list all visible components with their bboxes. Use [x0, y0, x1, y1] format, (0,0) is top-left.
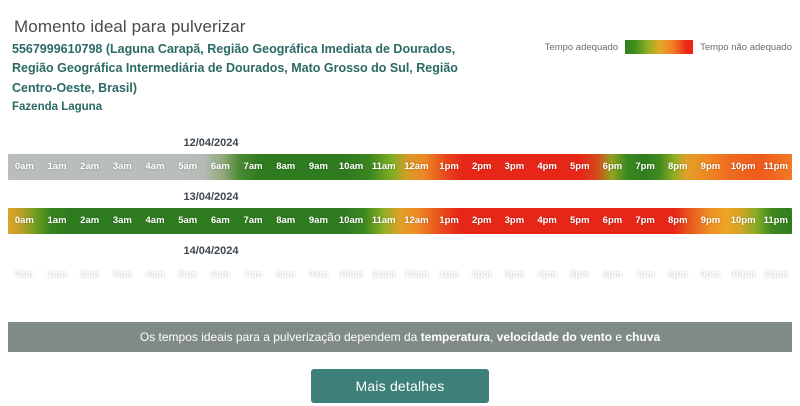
hour-cell[interactable]: 7pm: [629, 154, 662, 180]
hour-cell[interactable]: 11am: [367, 262, 400, 288]
legend-bad-label: Tempo não adequado: [700, 42, 792, 53]
legend: Tempo adequado Tempo não adequado: [545, 40, 792, 54]
hour-cell[interactable]: 9pm: [694, 262, 727, 288]
page-title: Momento ideal para pulverizar: [14, 17, 246, 37]
hour-cell[interactable]: 7am: [237, 262, 270, 288]
hour-cell[interactable]: 1pm: [433, 208, 466, 234]
hour-cell[interactable]: 6am: [204, 208, 237, 234]
hour-cell[interactable]: 2pm: [465, 262, 498, 288]
hour-cell[interactable]: 4am: [139, 154, 172, 180]
spray-timeline: 12/04/20240am1am2am3am4am5am6am7am8am9am…: [0, 133, 800, 295]
hour-cell[interactable]: 5pm: [563, 154, 596, 180]
hour-cell[interactable]: 3am: [106, 208, 139, 234]
hour-cell[interactable]: 1am: [41, 154, 74, 180]
hour-cell[interactable]: 11am: [367, 208, 400, 234]
hour-cell[interactable]: 9pm: [694, 208, 727, 234]
note-bold-vento: velocidade do vento: [497, 330, 612, 344]
hour-cell[interactable]: 4am: [139, 208, 172, 234]
hour-cell[interactable]: 7pm: [629, 208, 662, 234]
hour-cell[interactable]: 12am: [400, 208, 433, 234]
hour-cell[interactable]: 6am: [204, 262, 237, 288]
day-date-label: 12/04/2024: [0, 133, 800, 154]
hour-cell[interactable]: 8pm: [661, 208, 694, 234]
hour-cell[interactable]: 9am: [302, 262, 335, 288]
hour-cell[interactable]: 7am: [237, 154, 270, 180]
hour-cell[interactable]: 8am: [269, 208, 302, 234]
note-sep-1: ,: [490, 330, 497, 344]
hour-cell[interactable]: 2am: [73, 262, 106, 288]
hour-cell[interactable]: 1pm: [433, 154, 466, 180]
hour-cell[interactable]: 10am: [335, 262, 368, 288]
hour-cell[interactable]: 1pm: [433, 262, 466, 288]
hour-cell[interactable]: 5am: [171, 262, 204, 288]
hour-cell[interactable]: 9pm: [694, 154, 727, 180]
hour-cell[interactable]: 7am: [237, 208, 270, 234]
hour-cell[interactable]: 3pm: [498, 208, 531, 234]
hour-cell[interactable]: 4pm: [531, 154, 564, 180]
day-group: 13/04/20240am1am2am3am4am5am6am7am8am9am…: [0, 187, 800, 234]
hour-cell[interactable]: 4pm: [531, 208, 564, 234]
day-group: 14/04/20240am1am2am3am4am5am6am7am8am9am…: [0, 241, 800, 288]
hour-cell[interactable]: 10pm: [727, 154, 760, 180]
note-sep-2: e: [612, 330, 625, 344]
hour-cell[interactable]: 2pm: [465, 154, 498, 180]
hour-cell[interactable]: 5am: [171, 208, 204, 234]
hour-cell[interactable]: 1am: [41, 262, 74, 288]
hour-cell[interactable]: 11pm: [759, 262, 792, 288]
hour-cell[interactable]: 4pm: [531, 262, 564, 288]
hour-cell[interactable]: 3am: [106, 154, 139, 180]
hour-cell[interactable]: 10am: [335, 208, 368, 234]
day-date-label: 14/04/2024: [0, 241, 800, 262]
note-bold-temperatura: temperatura: [421, 330, 490, 344]
mais-detalhes-button[interactable]: Mais detalhes: [311, 369, 489, 403]
hour-bar[interactable]: 0am1am2am3am4am5am6am7am8am9am10am11am12…: [8, 154, 792, 180]
hour-cell[interactable]: 9am: [302, 154, 335, 180]
hour-cell[interactable]: 9am: [302, 208, 335, 234]
hour-cell[interactable]: 6am: [204, 154, 237, 180]
hour-cell[interactable]: 8am: [269, 262, 302, 288]
hour-cell[interactable]: 5pm: [563, 208, 596, 234]
hour-cell[interactable]: 8am: [269, 154, 302, 180]
hour-cell[interactable]: 6pm: [596, 262, 629, 288]
hour-cell[interactable]: 3pm: [498, 154, 531, 180]
note-prefix: Os tempos ideais para a pulverização dep…: [140, 330, 421, 344]
hour-cell[interactable]: 11pm: [759, 208, 792, 234]
legend-good-label: Tempo adequado: [545, 42, 618, 53]
hour-cell[interactable]: 5pm: [563, 262, 596, 288]
hour-cell[interactable]: 0am: [8, 208, 41, 234]
hour-cell[interactable]: 5am: [171, 154, 204, 180]
hour-cell[interactable]: 10pm: [727, 208, 760, 234]
hour-cell[interactable]: 3am: [106, 262, 139, 288]
hour-cell[interactable]: 6pm: [596, 208, 629, 234]
hour-cell[interactable]: 2pm: [465, 208, 498, 234]
hour-cell[interactable]: 12am: [400, 154, 433, 180]
hour-cell[interactable]: 7pm: [629, 262, 662, 288]
hour-cell[interactable]: 8pm: [661, 262, 694, 288]
hour-cell[interactable]: 8pm: [661, 154, 694, 180]
hour-bar[interactable]: 0am1am2am3am4am5am6am7am8am9am10am11am12…: [8, 262, 792, 288]
location-title: 5567999610798 (Laguna Carapã, Região Geo…: [12, 40, 464, 98]
hour-cell[interactable]: 10am: [335, 154, 368, 180]
location-block: 5567999610798 (Laguna Carapã, Região Geo…: [12, 40, 464, 115]
hour-cell[interactable]: 3pm: [498, 262, 531, 288]
footer-note: Os tempos ideais para a pulverização dep…: [8, 322, 792, 352]
hour-cell[interactable]: 4am: [139, 262, 172, 288]
farm-name: Fazenda Laguna: [12, 100, 464, 115]
hour-cell[interactable]: 2am: [73, 154, 106, 180]
hour-cell[interactable]: 11pm: [759, 154, 792, 180]
hour-cell[interactable]: 0am: [8, 262, 41, 288]
note-bold-chuva: chuva: [625, 330, 660, 344]
footer-note-text: Os tempos ideais para a pulverização dep…: [140, 330, 660, 344]
hour-cell[interactable]: 11am: [367, 154, 400, 180]
hour-bar[interactable]: 0am1am2am3am4am5am6am7am8am9am10am11am12…: [8, 208, 792, 234]
hour-cell[interactable]: 12am: [400, 262, 433, 288]
hour-cell[interactable]: 10pm: [727, 262, 760, 288]
day-date-label: 13/04/2024: [0, 187, 800, 208]
gradient-bar-icon: [625, 40, 693, 54]
day-group: 12/04/20240am1am2am3am4am5am6am7am8am9am…: [0, 133, 800, 180]
hour-cell[interactable]: 2am: [73, 208, 106, 234]
hour-cell[interactable]: 6pm: [596, 154, 629, 180]
hour-cell[interactable]: 1am: [41, 208, 74, 234]
hour-cell[interactable]: 0am: [8, 154, 41, 180]
